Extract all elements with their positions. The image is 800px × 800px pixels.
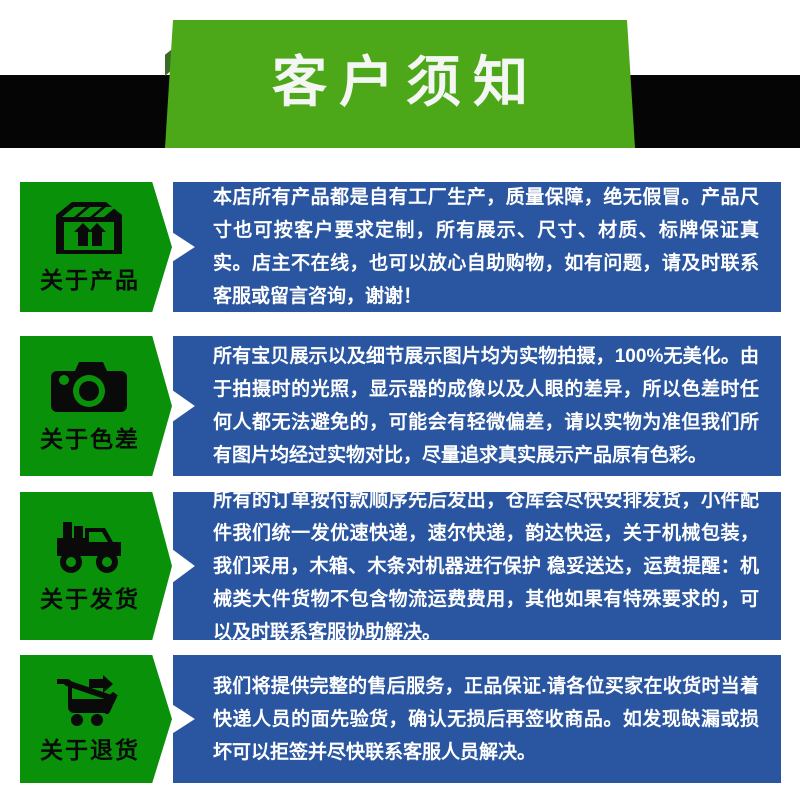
tag-label-shipping: 关于发货 (38, 580, 140, 614)
notice-row-return: 关于退货 我们将提供完整的售后服务，正品保证.请各位买家在收货时当着快递人员的面… (0, 655, 800, 783)
forklift-truck-icon (47, 518, 131, 576)
customer-notice-infographic: 客户须知 关于产品 本店所有产品都是自有工厂生产，质量保障，绝无假冒。产品尺寸也… (0, 0, 800, 800)
panel-product: 本店所有产品都是自有工厂生产，质量保障，绝无假冒。产品尺寸也可按客户要求定制，所… (173, 182, 781, 312)
tag-label-return: 关于退货 (38, 731, 140, 765)
tag-product[interactable]: 关于产品 (20, 182, 172, 312)
notice-row-color: 关于色差 所有宝贝展示以及细节展示图片均为实物拍摄，100%无美化。由于拍摄时的… (0, 336, 800, 476)
header-banner: 客户须知 (0, 0, 800, 170)
return-cart-icon (49, 673, 129, 727)
panel-text-color: 所有宝贝展示以及细节展示图片均为实物拍摄，100%无美化。由于拍摄时的光照，显示… (173, 340, 781, 472)
page-title: 客户须知 (260, 55, 540, 114)
notice-row-shipping: 关于发货 所有的订单按付款顺序先后发出，仓库会尽快安排发货，小件配件我们统一发优… (0, 492, 800, 640)
panel-text-product: 本店所有产品都是自有工厂生产，质量保障，绝无假冒。产品尺寸也可按客户要求定制，所… (173, 181, 781, 313)
notice-row-product: 关于产品 本店所有产品都是自有工厂生产，质量保障，绝无假冒。产品尺寸也可按客户要… (0, 182, 800, 312)
banner-plate: 客户须知 (165, 20, 635, 148)
package-box-icon (52, 199, 126, 257)
tag-label-color: 关于色差 (38, 420, 140, 454)
tag-color[interactable]: 关于色差 (20, 336, 172, 476)
panel-text-return: 我们将提供完整的售后服务，正品保证.请各位买家在收货时当着快递人员的面先验货，确… (173, 670, 781, 769)
panel-text-shipping: 所有的订单按付款顺序先后发出，仓库会尽快安排发货，小件配件我们统一发优速快递，速… (173, 484, 781, 649)
tag-return[interactable]: 关于退货 (20, 655, 172, 783)
panel-return: 我们将提供完整的售后服务，正品保证.请各位买家在收货时当着快递人员的面先验货，确… (173, 655, 781, 783)
tag-shipping[interactable]: 关于发货 (20, 492, 172, 640)
panel-color: 所有宝贝展示以及细节展示图片均为实物拍摄，100%无美化。由于拍摄时的光照，显示… (173, 336, 781, 476)
tag-label-product: 关于产品 (38, 261, 140, 295)
camera-icon (49, 358, 129, 416)
panel-shipping: 所有的订单按付款顺序先后发出，仓库会尽快安排发货，小件配件我们统一发优速快递，速… (173, 492, 781, 640)
